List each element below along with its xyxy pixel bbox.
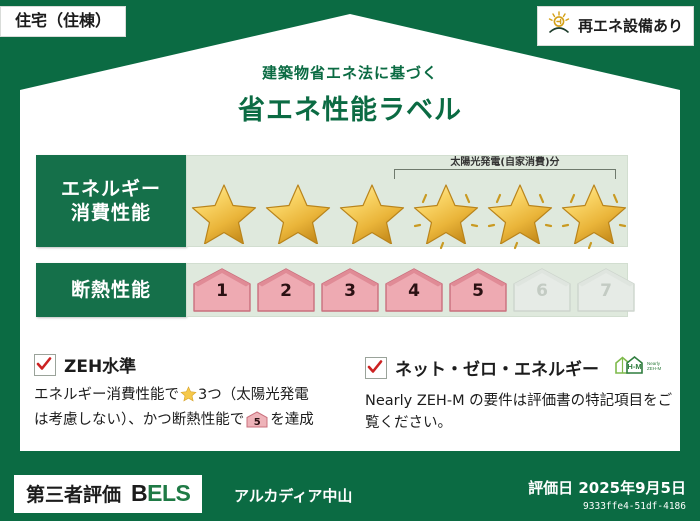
insulation-level-number: 1 xyxy=(192,281,252,301)
footer-bar: 第三者評価 BELS アルカディア中山 評価日 2025年9月5日 9333ff… xyxy=(0,465,700,521)
checkbox-net-zero[interactable] xyxy=(365,357,387,379)
certification-section: ZEH水準 エネルギー消費性能で3つ（太陽光発電は考慮しない）、かつ断熱性能で5… xyxy=(34,352,674,435)
insulation-level-3: 3 xyxy=(320,267,380,313)
cert-zeh-header: ZEH水準 xyxy=(34,352,343,377)
cert-zeh-body: エネルギー消費性能で3つ（太陽光発電は考慮しない）、かつ断熱性能で5を達成 xyxy=(34,384,343,432)
cert-zeh-body-pre: エネルギー消費性能で xyxy=(34,387,179,403)
star-6-solar xyxy=(558,174,630,244)
cert-zeh-star-count: 3つ（太陽光発電 xyxy=(198,387,309,403)
solar-annotation-label: 太陽光発電(自家消費)分 xyxy=(394,153,616,168)
insulation-level-number: 2 xyxy=(256,281,316,301)
insulation-level-number: 4 xyxy=(384,281,444,301)
insulation-level-2: 2 xyxy=(256,267,316,313)
insulation-key-label: 断熱性能 xyxy=(71,278,151,302)
insulation-level-scale: 1234567 xyxy=(192,267,636,313)
energy-key-line1: エネルギー xyxy=(61,177,161,201)
inline-star-icon xyxy=(180,386,197,409)
star-5-solar xyxy=(484,174,556,244)
inline-house-number: 5 xyxy=(246,415,268,431)
insulation-levels-panel: 1234567 xyxy=(186,263,628,317)
footer-right: 評価日 2025年9月5日 9333ffe4-51df-4186 xyxy=(528,477,686,512)
title-subtitle: 建築物省エネ法に基づく xyxy=(0,62,700,83)
checkbox-zeh[interactable] xyxy=(34,354,56,376)
insulation-level-4: 4 xyxy=(384,267,444,313)
star-2 xyxy=(262,174,334,244)
bels-logo: BELS xyxy=(131,480,190,507)
energy-performance-label: 住宅（住棟） 再エネ設備あり 建築物省エネ法に基づく 省エネ性能ラベル xyxy=(0,0,700,521)
insulation-level-number: 3 xyxy=(320,281,380,301)
svg-text:H-M: H-M xyxy=(627,362,641,371)
star-1 xyxy=(188,174,260,244)
star-4-solar xyxy=(410,174,482,244)
third-party-label: 第三者評価 xyxy=(26,480,121,507)
energy-performance-row: エネルギー 消費性能 太陽光発電(自家消費)分 xyxy=(36,155,628,247)
document-id: 9333ffe4-51df-4186 xyxy=(528,501,686,512)
cert-nze-body: Nearly ZEH-M の要件は評価書の特記項目をご覧ください。 xyxy=(365,390,674,435)
insulation-performance-row: 断熱性能 1234567 xyxy=(36,263,628,317)
dwelling-type-tag: 住宅（住棟） xyxy=(0,6,126,37)
energy-key-line2: 消費性能 xyxy=(71,201,151,225)
insulation-level-7: 7 xyxy=(576,267,636,313)
insulation-level-1: 1 xyxy=(192,267,252,313)
svg-text:ZEH-M: ZEH-M xyxy=(647,366,661,371)
label-title: 建築物省エネ法に基づく 省エネ性能ラベル xyxy=(0,62,700,127)
project-name: アルカディア中山 xyxy=(234,485,352,506)
insulation-level-6: 6 xyxy=(512,267,572,313)
bels-b: B xyxy=(131,480,147,506)
cert-zeh-body-mid: は考慮しない）、かつ断熱性能で xyxy=(34,412,244,428)
cert-zeh-title: ZEH水準 xyxy=(64,352,136,377)
cert-net-zero-energy: ネット・ゼロ・エネルギー H-M Nearly ZEH-M Nearly ZEH… xyxy=(365,352,674,435)
check-icon xyxy=(367,359,383,375)
renewable-badge-label: 再エネ設備あり xyxy=(578,15,683,36)
star-3 xyxy=(336,174,408,244)
evaluation-date: 評価日 2025年9月5日 xyxy=(528,477,686,498)
energy-performance-stars-panel: 太陽光発電(自家消費)分 xyxy=(186,155,628,247)
insulation-performance-key: 断熱性能 xyxy=(36,263,186,317)
energy-performance-key: エネルギー 消費性能 xyxy=(36,155,186,247)
insulation-level-number: 7 xyxy=(576,281,636,301)
bels-els: ELS xyxy=(147,480,190,506)
bels-plate: 第三者評価 BELS xyxy=(14,475,202,513)
renewable-energy-badge: 再エネ設備あり xyxy=(537,6,694,46)
star-rating xyxy=(188,174,630,244)
cert-nze-title: ネット・ゼロ・エネルギー xyxy=(395,355,599,380)
inline-house-icon: 5 xyxy=(246,411,268,428)
sun-icon xyxy=(546,11,572,40)
check-icon xyxy=(36,356,52,372)
cert-nze-header: ネット・ゼロ・エネルギー H-M Nearly ZEH-M xyxy=(365,352,674,383)
insulation-level-number: 5 xyxy=(448,281,508,301)
evaluation-date-value: 2025年9月5日 xyxy=(578,479,686,497)
insulation-level-number: 6 xyxy=(512,281,572,301)
zeh-m-logo: H-M Nearly ZEH-M xyxy=(613,352,667,383)
cert-zeh-standard: ZEH水準 エネルギー消費性能で3つ（太陽光発電は考慮しない）、かつ断熱性能で5… xyxy=(34,352,343,435)
insulation-level-5: 5 xyxy=(448,267,508,313)
evaluation-date-label: 評価日 xyxy=(528,479,573,497)
title-main: 省エネ性能ラベル xyxy=(0,88,700,127)
cert-zeh-body-post: を達成 xyxy=(270,412,314,428)
